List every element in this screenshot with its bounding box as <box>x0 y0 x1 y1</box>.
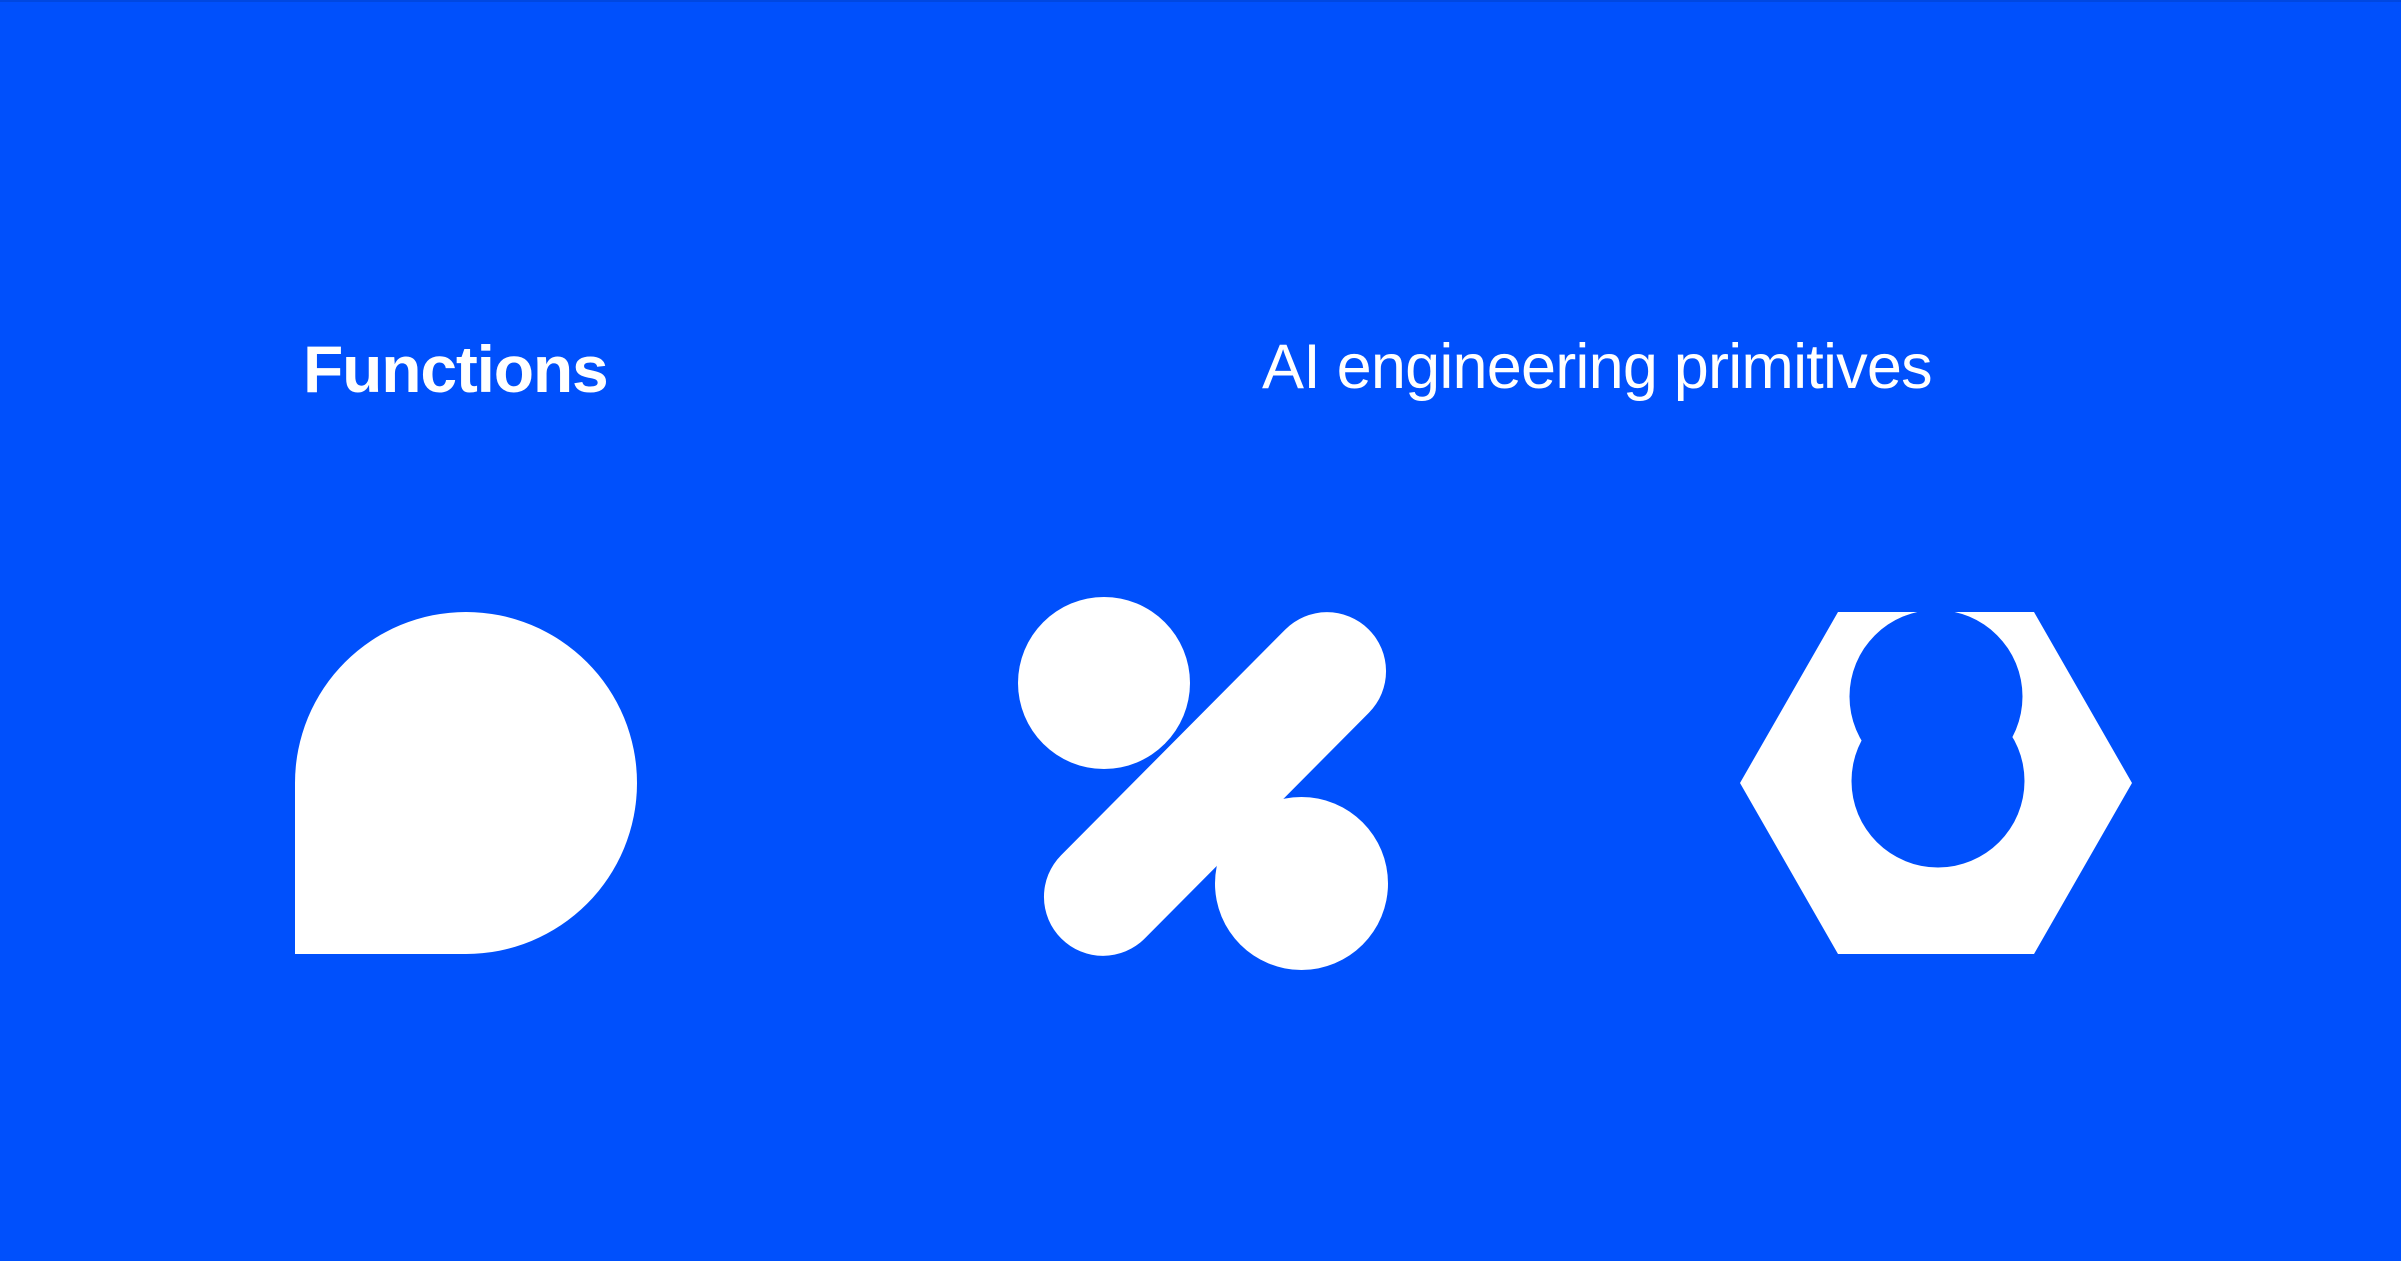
teardrop-icon <box>295 612 637 954</box>
hex-nut-icon <box>1740 612 2132 954</box>
percent-top-dot-icon <box>1018 597 1190 769</box>
hero-banner: Functions AI engineering primitives <box>0 0 2401 1261</box>
percent-bottom-dot-icon <box>1215 797 1388 970</box>
percent-icon <box>1018 597 1391 970</box>
glyph-row <box>0 2 2401 1261</box>
